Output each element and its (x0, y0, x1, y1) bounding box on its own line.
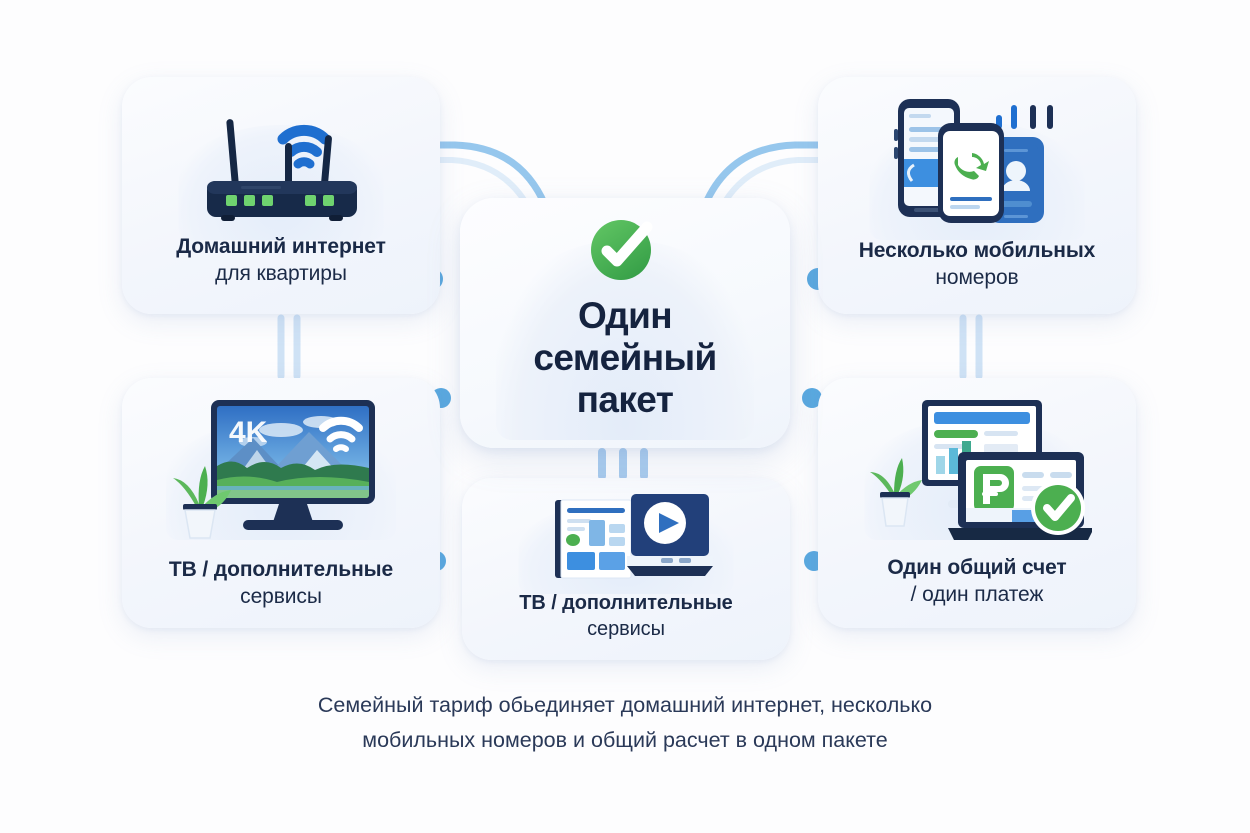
hub-title-line-2: семейный (533, 337, 716, 379)
card-single-bill-caption: Один общий счет / один платеж (887, 555, 1066, 609)
card-home-internet[interactable]: Домашний интернет для квартиры (122, 77, 440, 314)
hub-title-line-3: пакет (533, 379, 716, 421)
hub-title: Один семейный пакет (533, 295, 716, 422)
card-mobile-numbers[interactable]: Несколько мобильных номеров (818, 77, 1136, 314)
tv-4k-landscape-icon: 4K (161, 394, 401, 547)
caption-line-1: Несколько мобильных (859, 238, 1096, 265)
card-tv-services[interactable]: 4K ТВ / (122, 378, 440, 628)
tv-4k-badge: 4K (229, 416, 268, 449)
caption-line-2: сервисы (519, 617, 732, 643)
three-smartphones-icon (870, 93, 1085, 230)
caption-line-1: Домашний интернет (176, 234, 386, 261)
footer-line-1: Семейный тариф обьединяет домашний интер… (0, 688, 1250, 723)
caption-line-1: ТВ / дополнительные (169, 557, 393, 584)
video-player-document-icon (531, 490, 721, 587)
caption-line-2: сервисы (169, 584, 393, 611)
footer-line-2: мобильных номеров и общий расчет в одном… (0, 723, 1250, 758)
green-check-circle-icon (583, 210, 667, 291)
footer-description: Семейный тариф обьединяет домашний интер… (0, 688, 1250, 758)
caption-line-1: Один общий счет (887, 555, 1066, 582)
infographic-canvas: Домашний интернет для квартиры (0, 0, 1250, 833)
wifi-router-icon (181, 95, 381, 228)
caption-line-2: / один платеж (887, 582, 1066, 609)
caption-line-2: для квартиры (176, 261, 386, 288)
card-video-services[interactable]: ТВ / дополнительные сервисы (462, 478, 790, 660)
card-single-bill[interactable]: Один общий счет / один платеж (818, 378, 1136, 628)
laptop-monitor-payment-icon (862, 394, 1092, 547)
card-video-services-caption: ТВ / дополнительные сервисы (519, 591, 732, 642)
card-mobile-numbers-caption: Несколько мобильных номеров (859, 238, 1096, 292)
card-home-internet-caption: Домашний интернет для квартиры (176, 234, 386, 288)
hub-title-line-1: Один (533, 295, 716, 337)
caption-line-2: номеров (859, 265, 1096, 292)
card-tv-services-caption: ТВ / дополнительные сервисы (169, 557, 393, 611)
caption-line-1: ТВ / дополнительные (519, 591, 732, 617)
hub-card-one-family-package[interactable]: Один семейный пакет (460, 198, 790, 448)
